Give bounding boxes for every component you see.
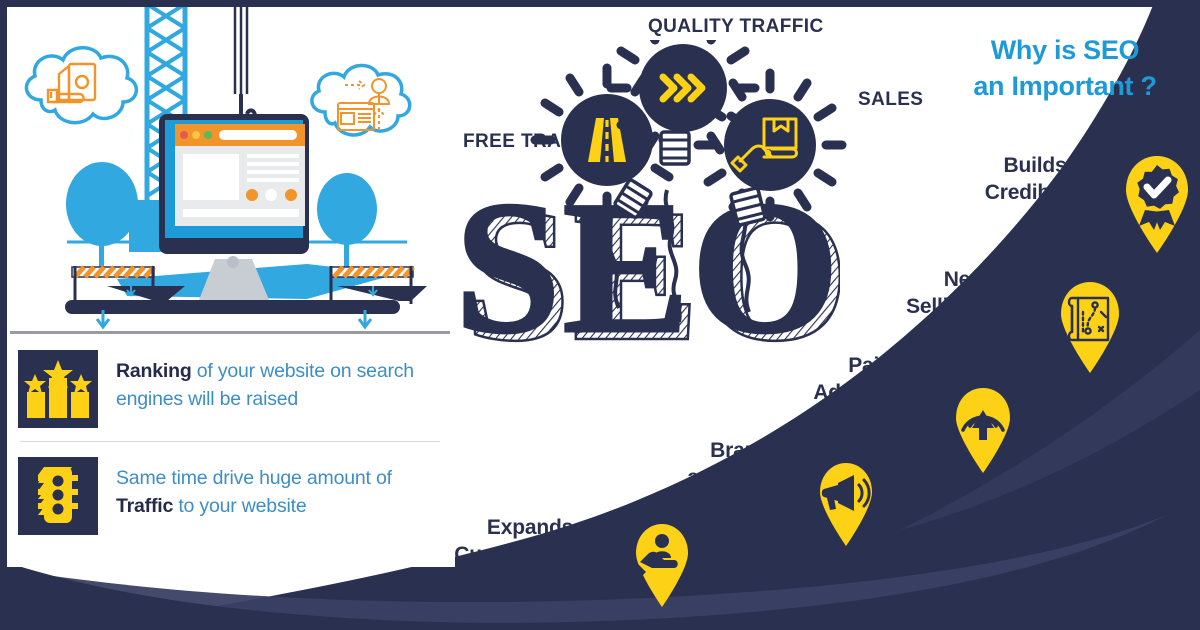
pin-brand-awareness[interactable] <box>810 457 882 547</box>
fact-traffic-part1: Same time drive huge amount of <box>116 467 392 489</box>
bulb-base <box>661 132 689 164</box>
top-frame-bar <box>0 0 1200 7</box>
pin-expands-customer-base[interactable] <box>626 518 698 608</box>
left-frame-bar <box>0 0 7 630</box>
pin-label-builds-credibility-line1: Builds <box>960 152 1110 179</box>
panel-divider <box>10 331 450 334</box>
ground-line <box>65 300 400 314</box>
infographic-canvas: Website <box>0 0 1200 630</box>
fact-traffic-emphasis: Traffic <box>116 495 173 517</box>
pin-label-builds-credibility: Builds Credibility <box>960 152 1110 206</box>
user-traffic-icon <box>338 79 389 130</box>
pin-label-brand-awareness-line2: awareness <box>662 464 818 491</box>
pin-label-expands-customer-base-line2: Customer Base <box>440 541 620 568</box>
facts-divider <box>20 441 440 442</box>
cash-hand-icon <box>48 64 95 102</box>
fact-traffic-text: Same time drive huge amount of Traffic t… <box>116 457 448 520</box>
browser-window-icon <box>175 124 305 226</box>
pin-label-expands-customer-base-line1: Expands <box>440 514 620 541</box>
pin-label-brand-awareness-line1: Brand <box>662 437 818 464</box>
traffic-light-icon <box>18 457 98 535</box>
bulbs-group <box>455 40 895 380</box>
pin-new-selling-path[interactable] <box>1050 276 1130 374</box>
fact-ranking-text: Ranking of your website on search engine… <box>116 350 448 413</box>
fact-ranking-emphasis: Ranking <box>116 360 192 382</box>
pin-label-paid-advertising-line2: Advertising <box>790 379 950 406</box>
pin-label-new-selling-path-line1: New <box>880 266 1050 293</box>
pin-label-new-selling-path: New Selling Path <box>880 266 1050 320</box>
crane-hook-icon <box>235 4 255 124</box>
pin-label-paid-advertising-line1: Paid <box>790 352 950 379</box>
page-title: Why is SEO an Important ? <box>940 32 1190 104</box>
pin-builds-credibility[interactable] <box>1114 150 1200 254</box>
fact-traffic-part2: to your website <box>173 495 306 517</box>
pin-label-expands-customer-base: Expands Customer Base <box>440 514 620 568</box>
podium-stars-icon <box>18 350 98 428</box>
bulb-label-quality-traffic: QUALITY TRAFFIC <box>648 16 824 38</box>
money-cloud <box>26 48 136 123</box>
bulb-base <box>730 188 765 226</box>
pin-label-new-selling-path-line2: Selling Path <box>880 293 1050 320</box>
pin-label-brand-awareness: Brand awareness <box>662 437 818 491</box>
visitors-cloud <box>312 65 410 134</box>
website-construction-illustration: Website <box>7 4 455 334</box>
fact-traffic: Same time drive huge amount of Traffic t… <box>18 457 448 535</box>
pin-label-builds-credibility-line2: Credibility <box>960 179 1110 206</box>
pin-paid-advertising[interactable] <box>946 382 1020 474</box>
page-title-line1: Why is SEO <box>940 32 1190 68</box>
fact-ranking: Ranking of your website on search engine… <box>18 350 448 428</box>
pin-label-paid-advertising: Paid Advertising <box>790 352 950 406</box>
bulb-base <box>614 179 652 218</box>
page-title-line2: an Important ? <box>940 68 1190 104</box>
